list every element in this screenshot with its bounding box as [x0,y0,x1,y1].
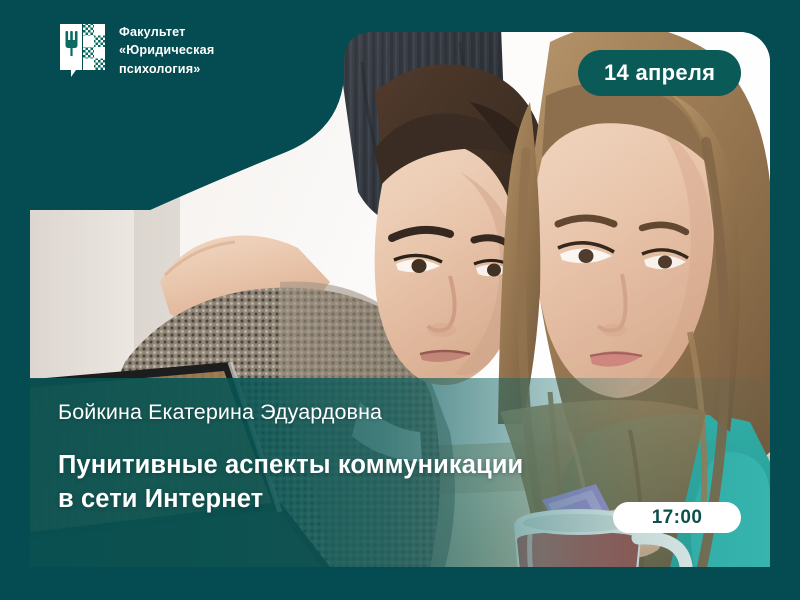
logo-line-2: «Юридическая [119,41,214,59]
event-announcement-poster: Факультет «Юридическая психология» 14 ап… [0,0,800,600]
date-badge: 14 апреля [578,50,741,96]
speaker-name: Бойкина Екатерина Эдуардовна [58,400,382,425]
logo-line-3: психология» [119,60,214,78]
talk-title-line-2: в сети Интернет [58,482,678,516]
logo-line-1: Факультет [119,23,214,41]
talk-title-line-1: Пунитивные аспекты коммуникации [58,448,678,482]
faculty-logo: Факультет «Юридическая психология» [58,20,214,84]
shield-banner-checkered-emblem [58,20,108,84]
time-badge: 17:00 [613,502,741,533]
talk-title: Пунитивные аспекты коммуникации в сети И… [58,448,678,516]
faculty-logo-text: Факультет «Юридическая психология» [119,20,214,78]
